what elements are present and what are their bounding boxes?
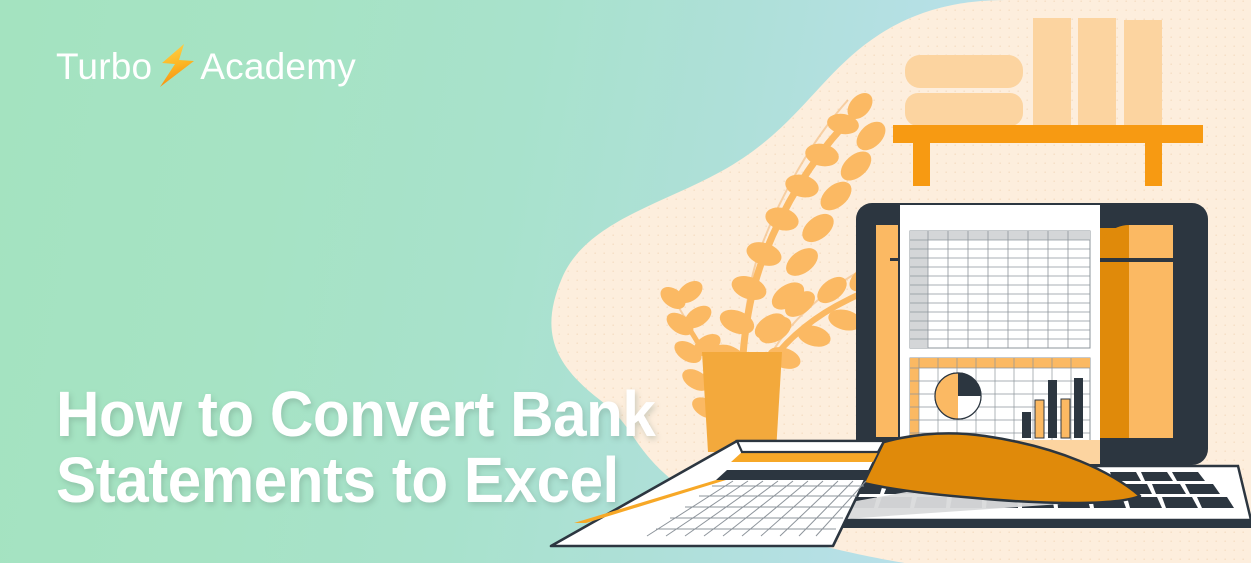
page-title: How to Convert Bank Statements to Excel (56, 381, 816, 513)
bookshelf-group (893, 18, 1203, 186)
spreadsheet-grid-on-screen (910, 231, 1090, 348)
pie-chart-on-screen (935, 373, 981, 419)
logo-word-turbo: Turbo (56, 48, 152, 85)
page-title-line-2: Statements to Excel (56, 447, 770, 513)
site-logo[interactable]: Turbo Academy (56, 42, 356, 90)
page-title-line-1: How to Convert Bank (56, 381, 770, 447)
article-hero-banner: Turbo Academy How to Convert Bank Statem… (0, 0, 1251, 563)
logo-word-academy: Academy (200, 48, 356, 85)
lightning-bolt-icon (156, 43, 198, 89)
